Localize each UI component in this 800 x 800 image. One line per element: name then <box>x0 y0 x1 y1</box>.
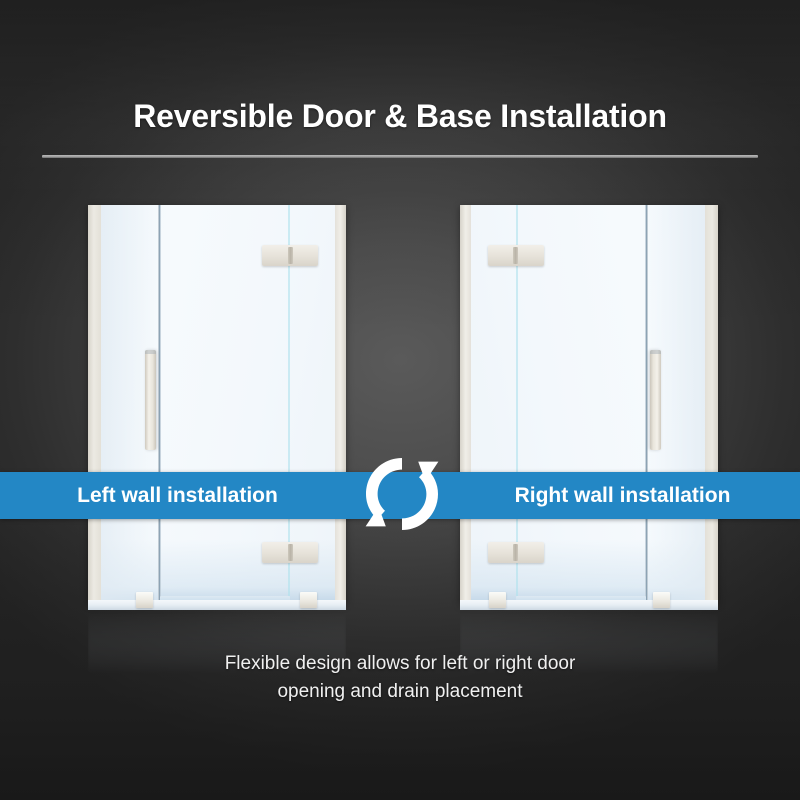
left-unit <box>88 205 346 610</box>
reversible-door-infographic: Reversible Door & Base Installation <box>0 0 800 800</box>
right-wall-installation-label: Right wall installation <box>445 472 800 519</box>
wall-profile <box>705 205 718 603</box>
base-foot-right <box>489 592 506 608</box>
bottom-hinge <box>488 542 544 563</box>
top-hinge <box>262 245 318 266</box>
door-handle <box>145 350 156 450</box>
left-wall-installation-label: Left wall installation <box>0 472 355 519</box>
right-unit <box>460 205 718 610</box>
base-foot-left <box>136 592 153 608</box>
bottom-hinge <box>262 542 318 563</box>
caption-line-1: Flexible design allows for left or right… <box>0 650 800 678</box>
door-edge-seam <box>158 205 161 603</box>
door-edge-seam <box>645 205 648 603</box>
caption-line-2: opening and drain placement <box>0 678 800 706</box>
title-divider <box>42 155 758 158</box>
wall-profile <box>88 205 101 603</box>
wall-profile-far <box>335 205 346 603</box>
door-handle <box>650 350 661 450</box>
top-hinge <box>488 245 544 266</box>
page-title: Reversible Door & Base Installation <box>0 98 800 135</box>
caption-text: Flexible design allows for left or right… <box>0 650 800 706</box>
wall-profile-far <box>460 205 471 603</box>
base-foot-right <box>300 592 317 608</box>
base-foot-left <box>653 592 670 608</box>
reverse-arrows-icon <box>358 448 446 540</box>
